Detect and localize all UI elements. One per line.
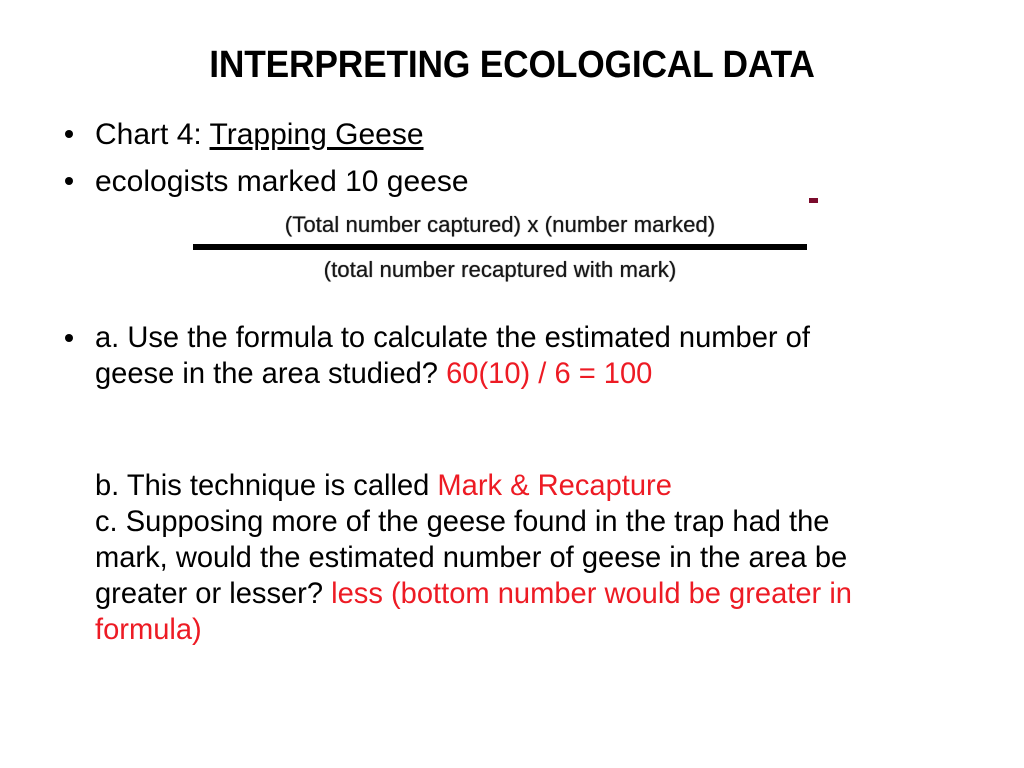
bullet-dot-icon bbox=[65, 177, 73, 185]
bullet-dot-icon bbox=[65, 334, 73, 342]
list-item-question-a: a. Use the formula to calculate the esti… bbox=[0, 320, 865, 392]
question-c-text: c. Supposing more of the geese found in … bbox=[95, 504, 861, 648]
question-bc-block: b. This technique is called Mark & Recap… bbox=[95, 468, 885, 648]
page-title: INTERPRETING ECOLOGICAL DATA bbox=[36, 43, 988, 87]
formula-image: (Total number captured) x (number marked… bbox=[186, 208, 814, 287]
fraction-bar bbox=[193, 244, 807, 250]
question-a-text: a. Use the formula to calculate the esti… bbox=[95, 320, 842, 392]
chart-4-label: Chart 4: bbox=[95, 118, 210, 151]
formula-denominator: (total number recaptured with mark) bbox=[192, 252, 807, 287]
ecologists-line: ecologists marked 10 geese bbox=[95, 163, 469, 200]
formula-numerator: (Total number captured) x (number marked… bbox=[192, 208, 807, 243]
question-a-answer: 60(10) / 6 = 100 bbox=[446, 357, 652, 390]
stray-mark-artifact bbox=[809, 198, 818, 203]
question-b-prompt: b. This technique is called bbox=[95, 469, 437, 502]
list-item-ecologists: ecologists marked 10 geese bbox=[0, 163, 469, 200]
chart-4-line: Chart 4: Trapping Geese bbox=[95, 116, 424, 153]
question-b-answer: Mark & Recapture bbox=[437, 469, 672, 502]
bullet-dot-icon bbox=[65, 130, 73, 138]
chart-4-title: Trapping Geese bbox=[210, 118, 424, 151]
slide-canvas: INTERPRETING ECOLOGICAL DATA Chart 4: Tr… bbox=[0, 0, 1024, 768]
question-b-text: b. This technique is called Mark & Recap… bbox=[95, 468, 861, 504]
list-item-chart-4: Chart 4: Trapping Geese bbox=[0, 116, 424, 153]
